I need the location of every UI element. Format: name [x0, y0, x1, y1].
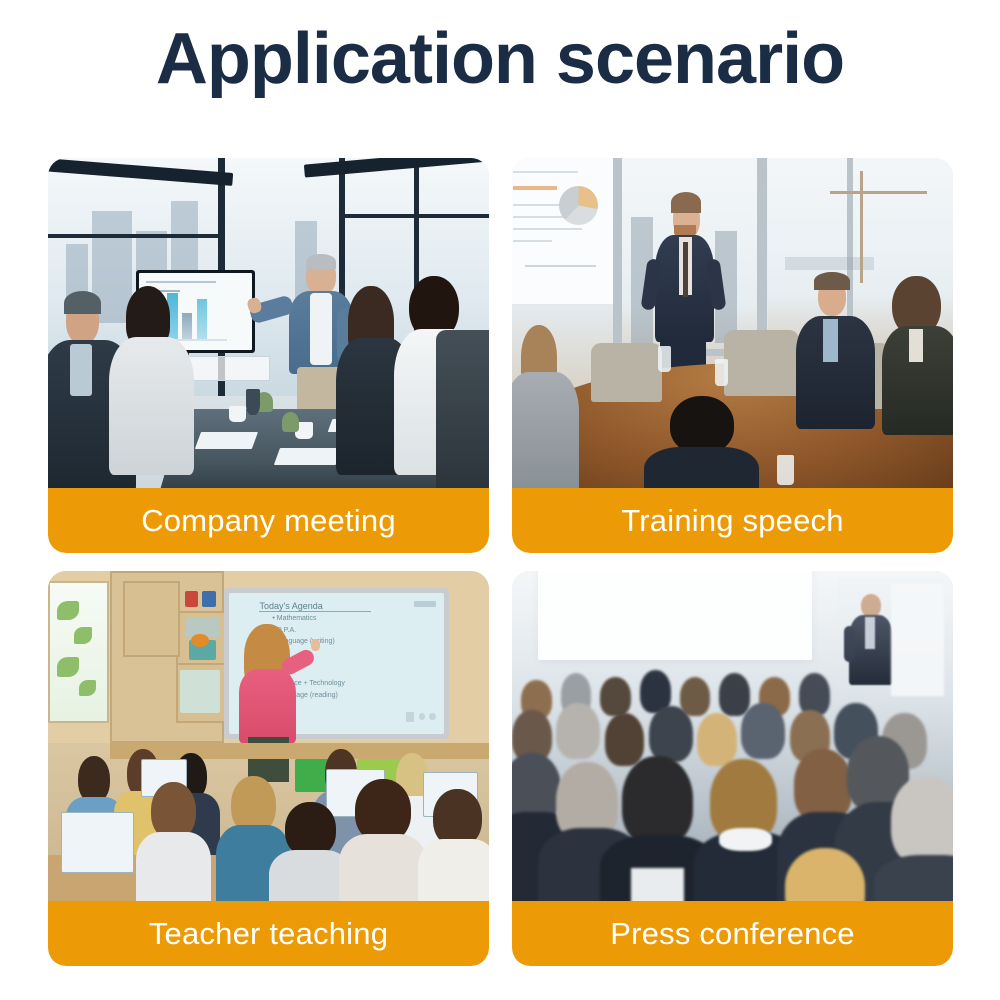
card-caption-teacher-teaching: Teacher teaching	[48, 901, 489, 966]
scenario-photo-teacher-teaching: Today's Agenda • Mathematics • D.P.A. • …	[48, 571, 489, 901]
scenario-photo-training-speech	[512, 158, 953, 488]
scenario-grid: Company meeting	[48, 158, 953, 966]
scenario-card-teacher-teaching[interactable]: Today's Agenda • Mathematics • D.P.A. • …	[48, 571, 489, 966]
student-figure	[339, 779, 427, 901]
scenario-photo-company-meeting	[48, 158, 489, 488]
company-meeting-illustration	[48, 158, 489, 488]
teacher-teaching-illustration: Today's Agenda • Mathematics • D.P.A. • …	[48, 571, 489, 901]
attendee-figure	[644, 396, 759, 488]
student-figure	[136, 782, 211, 901]
card-caption-company-meeting: Company meeting	[48, 488, 489, 553]
page-title: Application scenario	[0, 20, 1000, 99]
scenario-card-company-meeting[interactable]: Company meeting	[48, 158, 489, 553]
training-speech-illustration	[512, 158, 953, 488]
scenario-card-training-speech[interactable]: Training speech	[512, 158, 953, 553]
student-figure	[418, 789, 489, 901]
card-caption-training-speech: Training speech	[512, 488, 953, 553]
scenario-photo-press-conference	[512, 571, 953, 901]
attendee-figure	[512, 330, 583, 488]
presenter-figure	[649, 198, 728, 370]
card-caption-press-conference: Press conference	[512, 901, 953, 966]
scenario-card-press-conference[interactable]: Press conference	[512, 571, 953, 966]
application-scenario-page: Application scenario	[0, 0, 1000, 1000]
attendee-figure	[882, 283, 953, 435]
press-conference-illustration	[512, 571, 953, 901]
attendee-figure	[105, 293, 198, 475]
attendee-figure	[794, 277, 878, 429]
